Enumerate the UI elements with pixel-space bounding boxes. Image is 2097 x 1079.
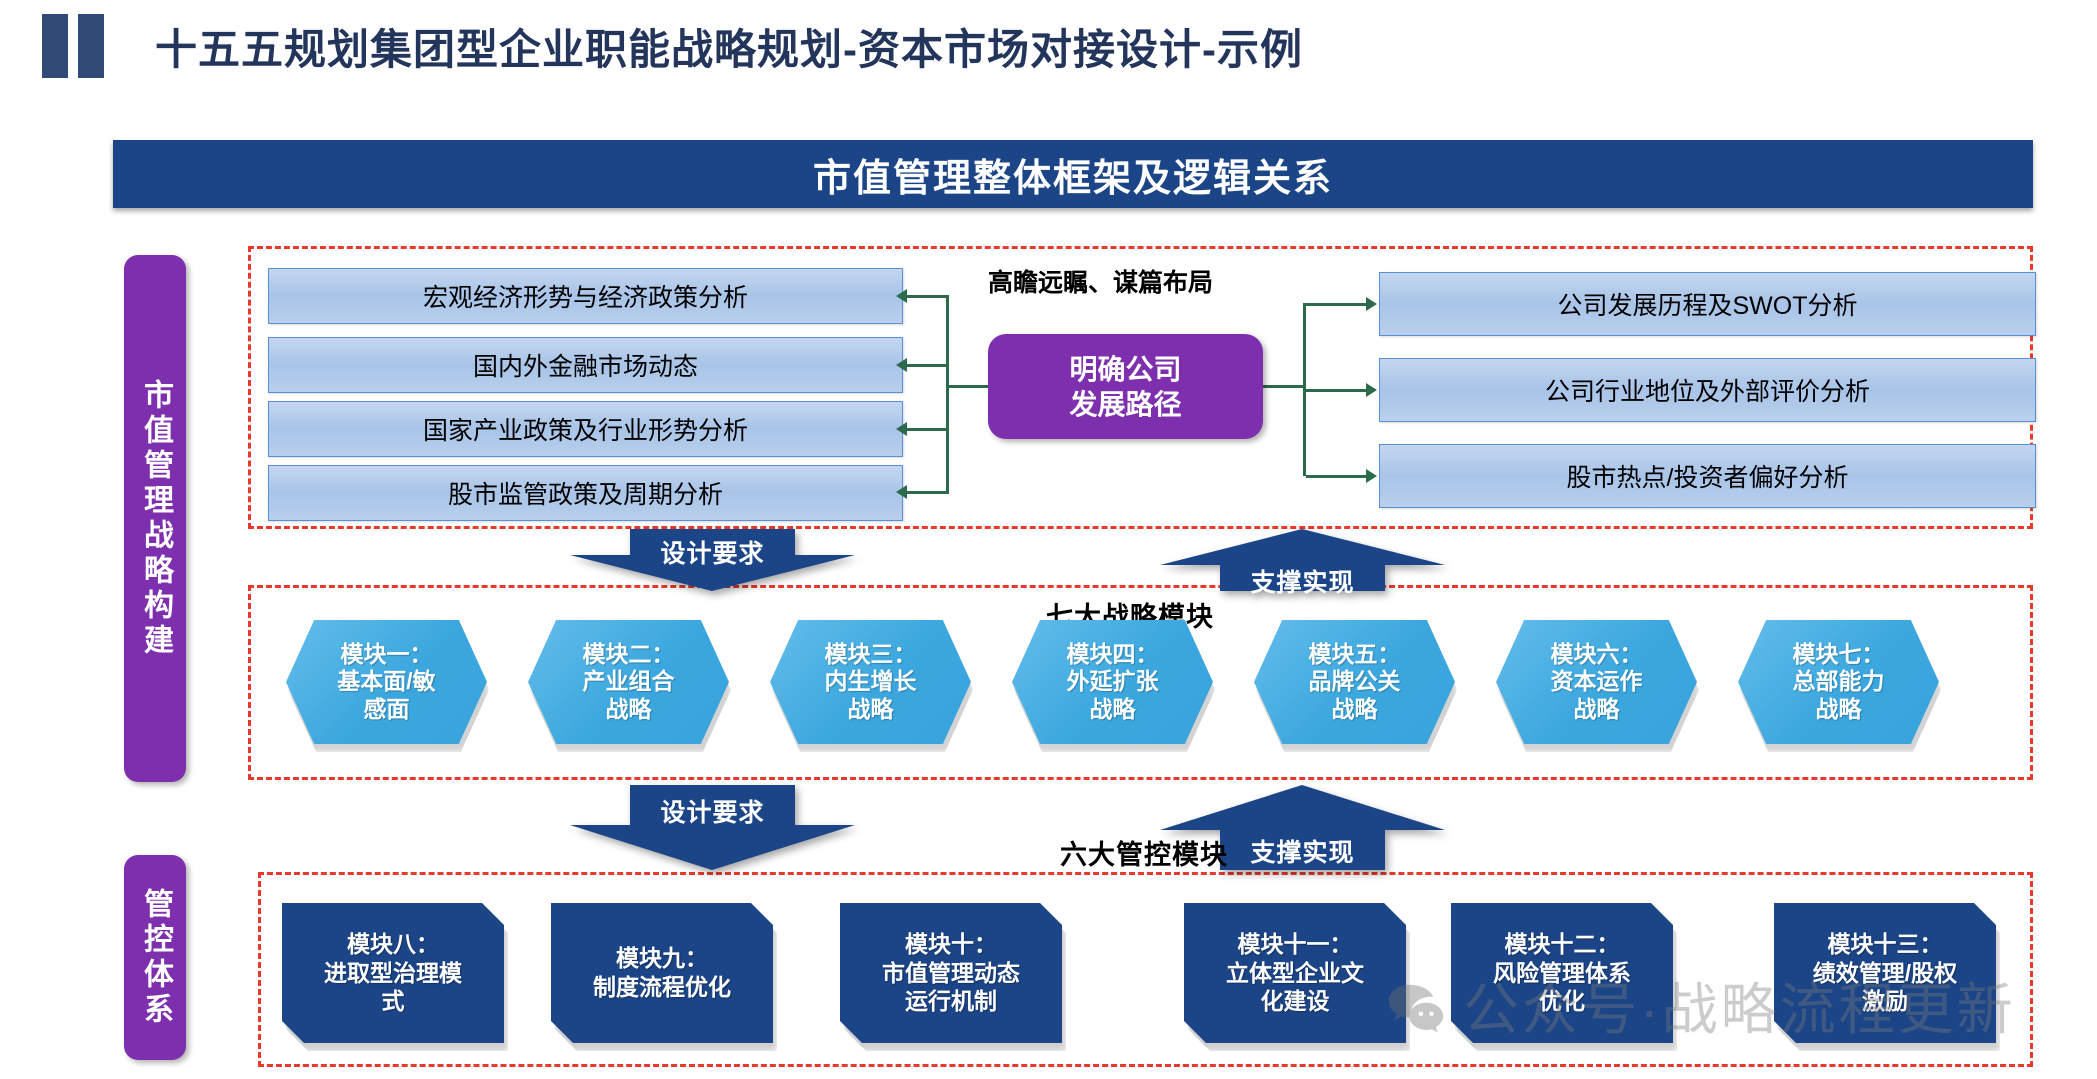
caption-six-modules: 六大管控模块 — [1060, 833, 1228, 872]
info-box-investor-preference[interactable]: 股市热点/投资者偏好分析 — [1379, 444, 2036, 508]
module-line-2: 基本面/敏 — [337, 668, 435, 696]
module-box-10[interactable]: 模块十： 市值管理动态 运行机制 — [840, 903, 1062, 1043]
module-hexagon-2[interactable]: 模块二： 产业组合 战略 — [528, 620, 729, 744]
connector-right-branch-3 — [1306, 475, 1366, 478]
info-box-stock-regulation[interactable]: 股市监管政策及周期分析 — [268, 465, 903, 521]
title-accent-mark-2 — [78, 14, 104, 78]
module-line-1: 模块十三： — [1828, 930, 1943, 959]
module-line-3: 运行机制 — [905, 987, 997, 1016]
module-line-2: 绩效管理/股权 — [1813, 959, 1957, 988]
info-box-industry-position[interactable]: 公司行业地位及外部评价分析 — [1379, 358, 2036, 422]
connector-left-branch-1 — [905, 295, 949, 298]
module-line-2: 进取型治理模 — [324, 959, 462, 988]
connector-left-branch-2 — [905, 364, 949, 367]
slide-canvas: 十五五规划集团型企业职能战略规划-资本市场对接设计-示例 市值管理整体框架及逻辑… — [0, 0, 2097, 1079]
connector-left-to-center — [946, 385, 990, 388]
connector-arrow-right-2 — [1366, 383, 1377, 397]
module-line-1: 模块十一： — [1238, 930, 1353, 959]
module-line-3: 优化 — [1539, 987, 1585, 1016]
module-line-3: 战略 — [1574, 696, 1620, 724]
module-line-1: 模块八： — [347, 930, 439, 959]
info-box-label: 公司行业地位及外部评价分析 — [1545, 372, 1870, 408]
module-line-1: 模块十二： — [1505, 930, 1620, 959]
module-hexagon-7[interactable]: 模块七： 总部能力 战略 — [1738, 620, 1939, 744]
module-line-1: 模块六： — [1551, 641, 1643, 669]
connector-left-vertical — [946, 296, 949, 493]
module-line-3: 战略 — [606, 696, 652, 724]
connector-arrow-right-1 — [1366, 297, 1377, 311]
module-line-2: 内生增长 — [825, 668, 917, 696]
connector-arrow-left-2 — [896, 358, 907, 372]
module-hexagon-6[interactable]: 模块六： 资本运作 战略 — [1496, 620, 1697, 744]
page-title: 十五五规划集团型企业职能战略规划-资本市场对接设计-示例 — [155, 16, 1303, 77]
side-tab-control-label: 管控体系 — [140, 888, 170, 1028]
module-line-2: 品牌公关 — [1309, 668, 1401, 696]
center-node-line-2: 发展路径 — [1069, 387, 1181, 422]
module-line-1: 模块四： — [1067, 641, 1159, 669]
module-line-2: 市值管理动态 — [882, 959, 1020, 988]
section-banner: 市值管理整体框架及逻辑关系 — [113, 140, 2033, 208]
connector-arrow-left-4 — [896, 485, 907, 499]
arrow-down-design-requirement-1: 设计要求 — [570, 529, 855, 591]
side-tab-strategy[interactable]: 市值管理战略构建 — [124, 255, 186, 782]
module-line-3: 感面 — [364, 696, 410, 724]
module-line-2: 立体型企业文 — [1226, 959, 1364, 988]
connector-right-branch-2 — [1306, 389, 1366, 392]
module-box-13[interactable]: 模块十三： 绩效管理/股权 激励 — [1774, 903, 1996, 1043]
connector-right-branch-1 — [1306, 303, 1366, 306]
module-line-2: 产业组合 — [583, 668, 675, 696]
panel-six-modules — [258, 872, 2033, 1067]
module-line-1: 模块十： — [905, 930, 997, 959]
module-line-3: 战略 — [1090, 696, 1136, 724]
module-line-1: 模块二： — [583, 641, 675, 669]
center-node-line-1: 明确公司 — [1069, 352, 1181, 387]
connector-arrow-right-3 — [1366, 469, 1377, 483]
connector-arrow-left-1 — [896, 289, 907, 303]
module-line-3: 激励 — [1862, 987, 1908, 1016]
module-line-2: 制度流程优化 — [593, 973, 731, 1002]
slide-title-bar: 十五五规划集团型企业职能战略规划-资本市场对接设计-示例 — [0, 0, 2097, 110]
info-box-label: 国内外金融市场动态 — [473, 347, 698, 383]
info-box-financial-market[interactable]: 国内外金融市场动态 — [268, 337, 903, 393]
module-hexagon-3[interactable]: 模块三： 内生增长 战略 — [770, 620, 971, 744]
module-line-3: 战略 — [1816, 696, 1862, 724]
side-tab-strategy-label: 市值管理战略构建 — [140, 379, 170, 659]
section-banner-label: 市值管理整体框架及逻辑关系 — [813, 147, 1333, 202]
module-line-2: 风险管理体系 — [1493, 959, 1631, 988]
arrow-up-support-realization-1: 支撑实现 — [1160, 529, 1445, 591]
info-box-swot[interactable]: 公司发展历程及SWOT分析 — [1379, 272, 2036, 336]
module-line-1: 模块九： — [616, 944, 708, 973]
center-node-development-path[interactable]: 明确公司 发展路径 — [988, 334, 1263, 439]
module-line-3: 化建设 — [1261, 987, 1330, 1016]
module-line-3: 战略 — [1332, 696, 1378, 724]
connector-left-branch-3 — [905, 428, 949, 431]
info-box-label: 股市监管政策及周期分析 — [448, 475, 723, 511]
info-box-label: 国家产业政策及行业形势分析 — [423, 411, 748, 447]
connector-arrow-left-3 — [896, 422, 907, 436]
module-line-3: 战略 — [848, 696, 894, 724]
connector-left-branch-4 — [905, 491, 949, 494]
module-line-2: 外延扩张 — [1067, 668, 1159, 696]
module-box-11[interactable]: 模块十一： 立体型企业文 化建设 — [1184, 903, 1406, 1043]
center-node-caption: 高瞻远瞩、谋篇布局 — [988, 268, 1238, 298]
info-box-label: 股市热点/投资者偏好分析 — [1567, 458, 1849, 494]
arrow-down-design-requirement-2: 设计要求 — [570, 785, 855, 870]
module-box-9[interactable]: 模块九： 制度流程优化 — [551, 903, 773, 1043]
info-box-label: 公司发展历程及SWOT分析 — [1558, 286, 1858, 322]
module-line-3: 式 — [382, 987, 405, 1016]
title-accent-mark-1 — [42, 14, 68, 78]
module-hexagon-4[interactable]: 模块四： 外延扩张 战略 — [1012, 620, 1213, 744]
module-box-12[interactable]: 模块十二： 风险管理体系 优化 — [1451, 903, 1673, 1043]
module-box-8[interactable]: 模块八： 进取型治理模 式 — [282, 903, 504, 1043]
module-line-1: 模块五： — [1309, 641, 1401, 669]
module-line-2: 资本运作 — [1551, 668, 1643, 696]
connector-center-to-right — [1263, 385, 1306, 388]
module-line-1: 模块一： — [341, 641, 433, 669]
module-hexagon-1[interactable]: 模块一： 基本面/敏 感面 — [286, 620, 487, 744]
module-line-1: 模块七： — [1793, 641, 1885, 669]
info-box-industry-policy[interactable]: 国家产业政策及行业形势分析 — [268, 401, 903, 457]
info-box-label: 宏观经济形势与经济政策分析 — [423, 278, 748, 314]
side-tab-control[interactable]: 管控体系 — [124, 855, 186, 1060]
info-box-macro-economy[interactable]: 宏观经济形势与经济政策分析 — [268, 268, 903, 324]
module-line-1: 模块三： — [825, 641, 917, 669]
module-line-2: 总部能力 — [1793, 668, 1885, 696]
module-hexagon-5[interactable]: 模块五： 品牌公关 战略 — [1254, 620, 1455, 744]
